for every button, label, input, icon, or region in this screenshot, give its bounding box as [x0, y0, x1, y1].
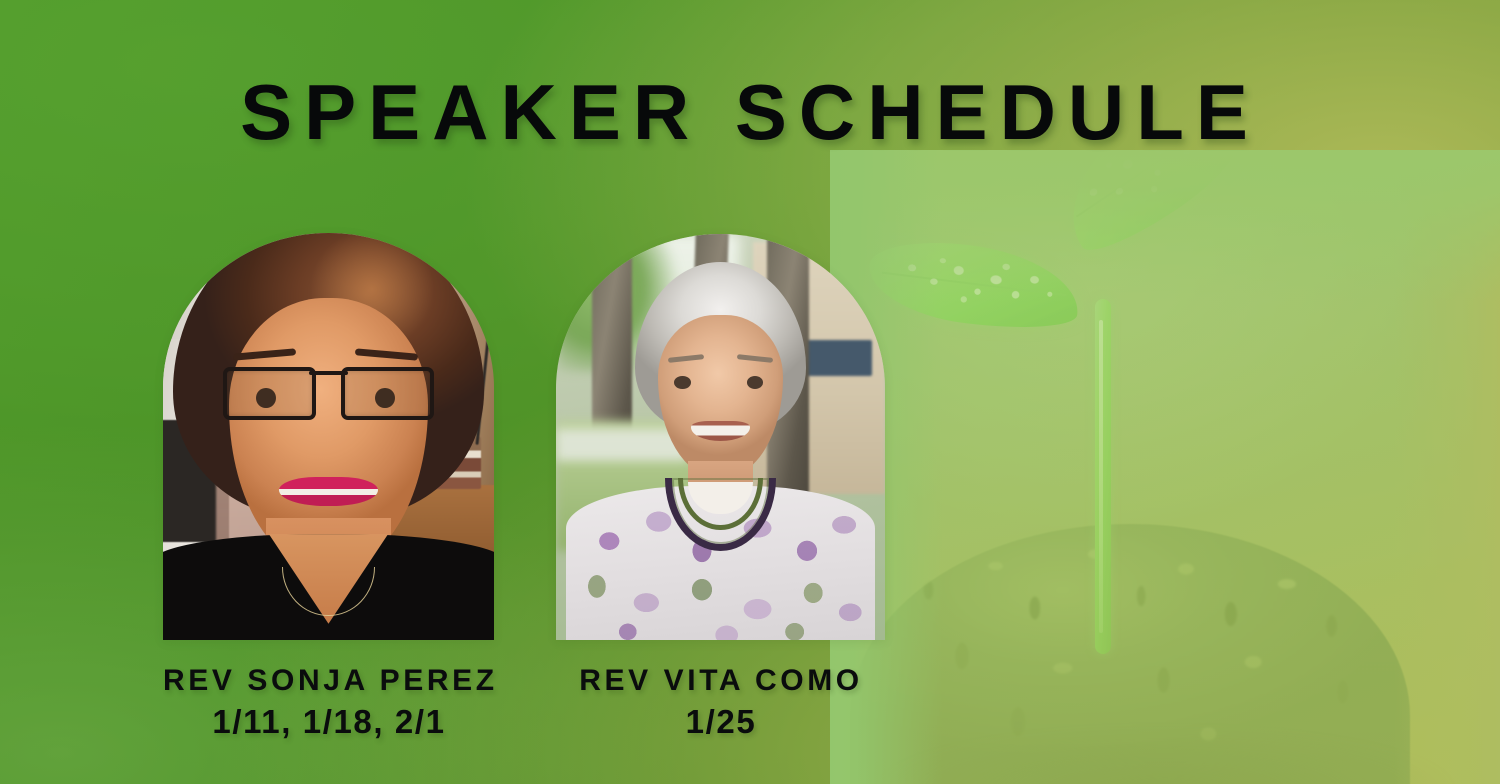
- speaker-1-caption: REV SONJA PEREZ 1/11, 1/18, 2/1: [163, 663, 495, 742]
- glasses-bridge: [309, 371, 349, 375]
- speaker-photo-2: [556, 234, 885, 640]
- eyeglasses: [223, 367, 435, 420]
- lens-right: [341, 367, 434, 420]
- speaker-1-dates: 1/11, 1/18, 2/1: [163, 703, 495, 742]
- eye-left: [674, 376, 690, 389]
- speaker-schedule-poster: SPEAKER SCHEDULE: [0, 0, 1500, 784]
- speaker-1-name: REV SONJA PEREZ: [163, 663, 495, 698]
- lips: [279, 477, 378, 505]
- portrait-vita-como: [556, 234, 885, 640]
- page-title: SPEAKER SCHEDULE: [0, 73, 1500, 151]
- speaker-2-caption: REV VITA COMO 1/25: [556, 663, 886, 742]
- lens-left: [223, 367, 316, 420]
- sprout-edge-fade: [830, 150, 1500, 784]
- speaker-2-dates: 1/25: [556, 703, 886, 742]
- speaker-2-name: REV VITA COMO: [556, 663, 886, 698]
- speaker-photo-1: [163, 233, 494, 640]
- sprout-photo: [830, 150, 1500, 784]
- portrait-sonja-perez: [163, 233, 494, 640]
